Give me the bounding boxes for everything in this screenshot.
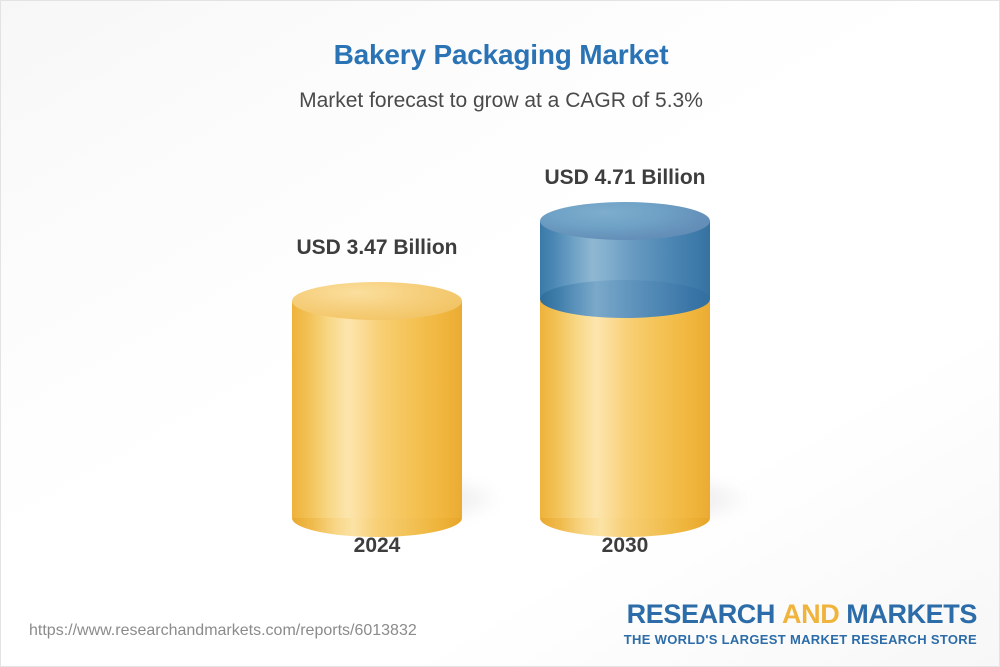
research-and-markets-logo[interactable]: RESEARCHANDMARKETS THE WORLD'S LARGEST M… <box>624 601 977 647</box>
logo-tagline: THE WORLD'S LARGEST MARKET RESEARCH STOR… <box>624 632 977 647</box>
chart-subtitle: Market forecast to grow at a CAGR of 5.3… <box>1 89 1000 113</box>
value-label-2024: USD 3.47 Billion <box>282 236 472 260</box>
value-label-2030: USD 4.71 Billion <box>530 166 720 190</box>
logo-word-research: RESEARCH <box>627 599 775 629</box>
category-label-2024: 2024 <box>282 534 472 558</box>
bar-2030-segment-seam <box>540 280 710 318</box>
category-label-2030: 2030 <box>530 534 720 558</box>
report-url[interactable]: https://www.researchandmarkets.com/repor… <box>29 622 417 640</box>
chart-canvas: Bakery Packaging Market Market forecast … <box>0 0 1000 667</box>
bar-2030-top-cap <box>540 202 710 240</box>
chart-title: Bakery Packaging Market <box>1 39 1000 71</box>
bar-2024-body <box>292 301 462 518</box>
bar-2024-top-cap <box>292 282 462 320</box>
logo-word-markets: MARKETS <box>846 599 977 629</box>
logo-wordmark: RESEARCHANDMARKETS <box>624 601 977 628</box>
bar-2030-yellow-clip <box>540 297 710 518</box>
logo-word-and: AND <box>782 599 839 629</box>
bar-2030-yellow-body <box>540 297 710 518</box>
bar-2024-body-clip <box>292 301 462 518</box>
